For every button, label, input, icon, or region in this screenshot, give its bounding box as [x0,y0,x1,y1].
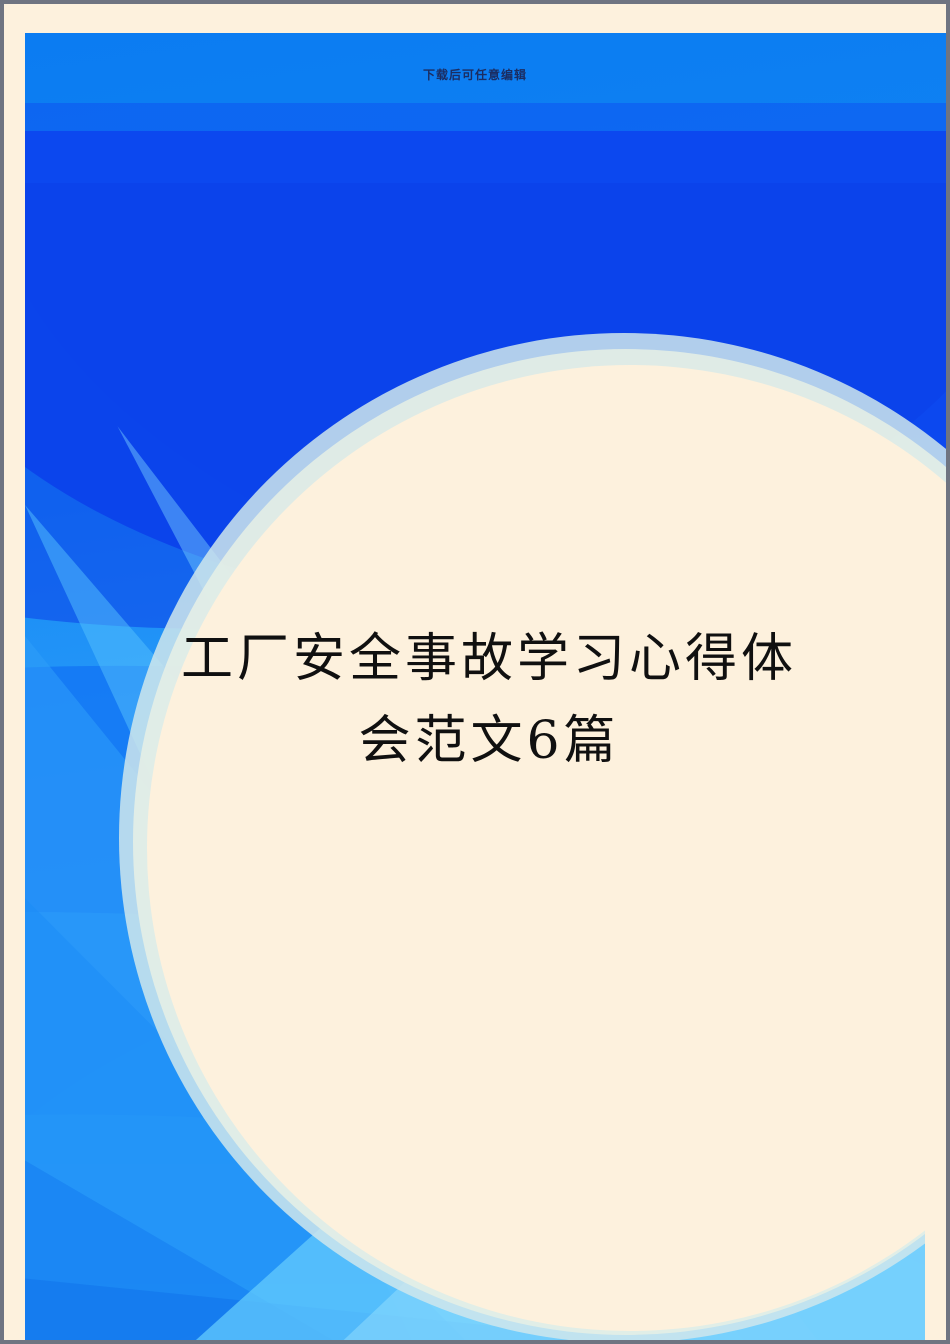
page-title: 工厂安全事故学习心得体 会范文6篇 [154,618,824,782]
document-page: 下载后可任意编辑 工厂安全事故学习心得体 会范文6篇 [0,0,950,1344]
header-caption: 下载后可任意编辑 [4,66,946,83]
page-title-line-2: 会范文6篇 [154,700,824,782]
page-title-line-1: 工厂安全事故学习心得体 [154,618,824,700]
right-margin-fill [925,488,950,1344]
